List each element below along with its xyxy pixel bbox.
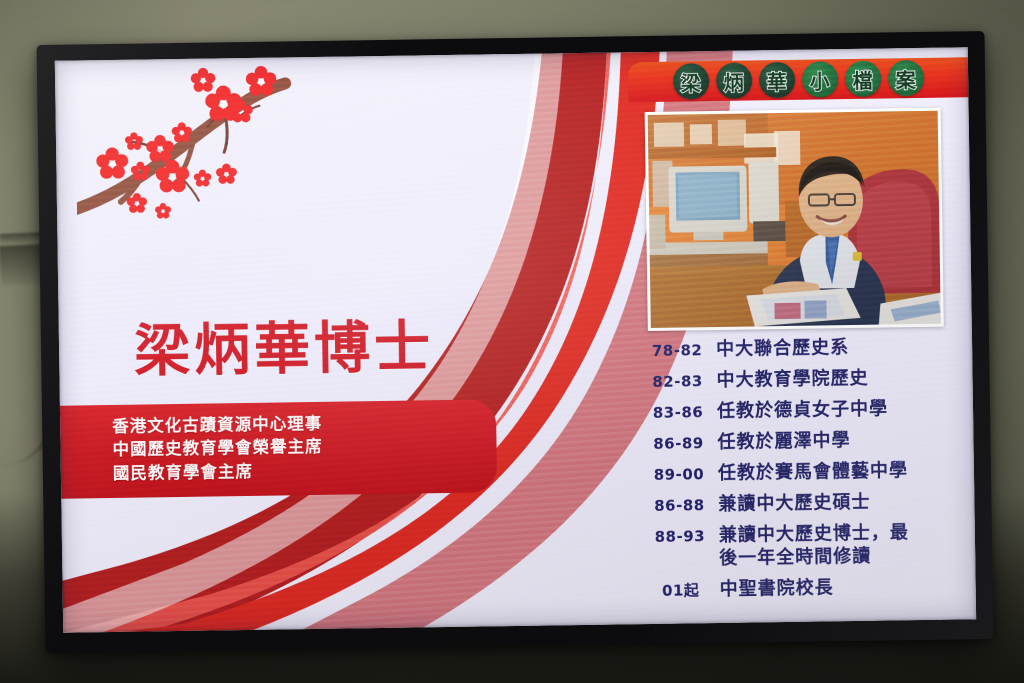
cv-text: 任教於賽馬會體藝中學: [718, 460, 908, 485]
cv-row: 82-83 中大教育學院歷史: [638, 366, 966, 393]
portrait-photo: [645, 108, 944, 331]
cv-text-line1: 中聖書院校長: [720, 577, 834, 600]
cv-text-line1: 中大聯合歷史系: [716, 337, 849, 360]
television: 梁炳華博士 香港文化古蹟資源中心理事 中國歷史教育學會榮譽主席 國民教育學會主席…: [37, 31, 994, 653]
cv-text-line1: 兼讀中大歷史碩士: [718, 492, 870, 515]
header-char-1: 梁: [672, 63, 709, 100]
header-char-5: 檔: [844, 61, 881, 98]
subtitle-banner: 香港文化古蹟資源中心理事 中國歷史教育學會榮譽主席 國民教育學會主席: [55, 399, 497, 499]
tv-screen: 梁炳華博士 香港文化古蹟資源中心理事 中國歷史教育學會榮譽主席 國民教育學會主席…: [55, 47, 976, 632]
cv-row: 78-82 中大聯合歷史系: [638, 335, 966, 362]
room-scene: 梁炳華博士 香港文化古蹟資源中心理事 中國歷史教育學會榮譽主席 國民教育學會主席…: [0, 0, 1024, 683]
cv-text-line1: 任教於賽馬會體藝中學: [718, 460, 908, 484]
cv-text-line1: 任教於德貞女子中學: [717, 398, 888, 422]
cv-year: 83-86: [639, 401, 717, 424]
header-char-4: 小: [801, 61, 838, 98]
cv-text: 任教於麗澤中學: [717, 430, 850, 454]
header-char-3: 華: [758, 62, 795, 99]
subtitle-line-3: 國民教育學會主席: [113, 456, 477, 485]
header-char-6: 案: [887, 60, 924, 97]
cv-year: 78-82: [638, 339, 716, 362]
cv-text-line1: 兼讀中大歷史博士，最: [719, 522, 909, 546]
cv-text-line1: 中大教育學院歷史: [716, 368, 868, 391]
cv-text-line2: 後一年全時間修讀: [719, 545, 909, 570]
cv-text: 中大聯合歷史系: [716, 337, 849, 361]
cv-text: 兼讀中大歷史博士，最 後一年全時間修讀: [719, 522, 910, 570]
cv-row: 01起 中聖書院校長: [642, 575, 970, 602]
cv-text: 兼讀中大歷史碩士: [718, 492, 870, 517]
cv-year: 82-83: [638, 370, 716, 393]
cv-year: 89-00: [640, 463, 718, 486]
profile-panel: 梁 炳 華 小 檔 案: [628, 47, 976, 624]
cv-year: 86-88: [640, 494, 718, 517]
plum-blossom-branch-icon: [75, 57, 338, 251]
cv-year: 86-89: [639, 432, 717, 455]
presentation-slide: 梁炳華博士 香港文化古蹟資源中心理事 中國歷史教育學會榮譽主席 國民教育學會主席…: [55, 47, 976, 632]
cv-text-line1: 任教於麗澤中學: [717, 430, 850, 453]
cv-list: 78-82 中大聯合歷史系 82-83 中大教育學院歷史 83-86 任教於德貞…: [638, 335, 970, 610]
cv-row: 86-89 任教於麗澤中學: [639, 428, 967, 455]
cv-row: 88-93 兼讀中大歷史博士，最 後一年全時間修讀: [641, 521, 970, 571]
cv-row: 83-86 任教於德貞女子中學: [639, 397, 967, 424]
panel-header-title: 梁 炳 華 小 檔 案: [628, 57, 969, 102]
page-title: 梁炳華博士: [134, 320, 435, 380]
cv-row: 89-00 任教於賽馬會體藝中學: [640, 459, 968, 486]
cv-row: 86-88 兼讀中大歷史碩士: [640, 490, 968, 517]
cv-year: 88-93: [641, 525, 719, 548]
cv-text: 任教於德貞女子中學: [717, 398, 888, 423]
cv-text: 中聖書院校長: [720, 577, 834, 601]
cv-text: 中大教育學院歷史: [716, 368, 868, 393]
header-char-2: 炳: [715, 62, 752, 99]
cv-year: 01起: [642, 578, 720, 601]
